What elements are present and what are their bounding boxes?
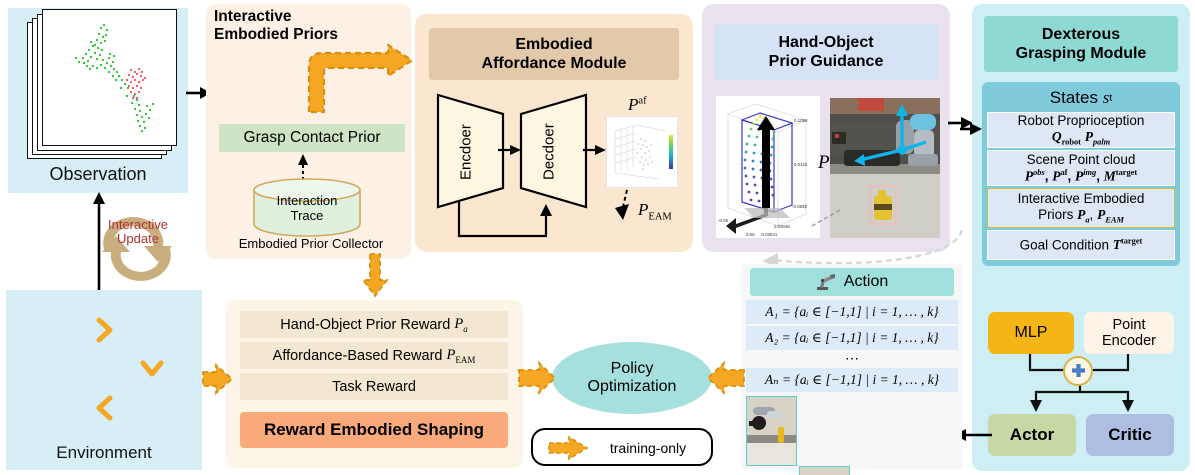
legend-label: training-only bbox=[596, 436, 700, 460]
svg-text:0.0115: 0.0115 bbox=[794, 162, 808, 167]
arrow-affordance-to-peam bbox=[615, 190, 635, 222]
peam-sub: EAM bbox=[648, 211, 671, 222]
figure-root: Observation Interactive Update Interacti… bbox=[0, 0, 1195, 475]
interactive-update-line2: Update bbox=[96, 232, 180, 246]
affordance-plot-thumbnail bbox=[606, 116, 678, 188]
state-row-interactive-embodied-priors: Interactive Embodied Priors Pa, PEAM bbox=[987, 188, 1175, 228]
encoder-label: Encdoer bbox=[455, 98, 477, 206]
eam-title-line2: Affordance Module bbox=[482, 54, 627, 73]
iep-title: Interactive Embodied Priors bbox=[214, 8, 404, 45]
action-header: Action bbox=[750, 268, 954, 296]
mlp-block[interactable]: MLP bbox=[988, 312, 1074, 354]
interactive-update-label: Interactive Update bbox=[96, 218, 180, 245]
state-row-proprioception: Robot Proprioception Qrobot Ppalm bbox=[987, 112, 1175, 148]
arrow-reward-to-policy bbox=[519, 362, 557, 394]
reward-row-task: Task Reward bbox=[240, 373, 508, 400]
decoder-label: Decdoer bbox=[538, 98, 560, 206]
arrow-action-to-policy bbox=[706, 362, 744, 394]
iep-to-eam-training-arrow bbox=[300, 44, 425, 116]
eam-header: Embodied Affordance Module bbox=[429, 28, 679, 80]
arrow-encoder-to-decoder bbox=[498, 142, 524, 158]
hop-title-line1: Hand-Object bbox=[778, 33, 873, 52]
peam-label: PEAM bbox=[638, 200, 698, 224]
dgm-title-line1: Dexterous bbox=[1042, 25, 1120, 44]
hop-pointcloud-plot: 0.1058 0.0115 -0.0838 -0.05 0.03046 0.05… bbox=[716, 96, 820, 238]
state-row-2-line1: Interactive Embodied bbox=[1018, 191, 1145, 207]
reward-1-sym: PEAM bbox=[447, 347, 476, 365]
reward-0-sym: Pa bbox=[454, 316, 467, 334]
reward-embodied-shaping-title: Reward Embodied Shaping bbox=[240, 412, 508, 448]
hop-dashed-link bbox=[812, 206, 842, 230]
interaction-trace-label: Interaction Trace bbox=[252, 194, 362, 224]
arrow-into-states bbox=[960, 120, 984, 138]
interaction-trace-line1: Interaction bbox=[277, 194, 338, 209]
observation-caption: Observation bbox=[8, 160, 188, 188]
robot-arm-icon bbox=[816, 273, 836, 291]
observation-point-cloud bbox=[42, 9, 177, 146]
policy-line1: Policy bbox=[611, 360, 654, 378]
action-equation-2: A₂ = {aᵢ ∈ [−1,1] | i = 1, … , k} bbox=[746, 326, 958, 350]
action-equation-ellipsis: ⋯ bbox=[746, 350, 958, 368]
state-row-0-math: Qrobot Ppalm bbox=[1052, 129, 1110, 147]
point-encoder-line2: Encoder bbox=[1102, 333, 1156, 349]
interactive-update-line1: Interactive bbox=[96, 218, 180, 232]
skip-connection bbox=[436, 196, 581, 244]
action-equation-1: A₁ = {aᵢ ∈ [−1,1] | i = 1, … , k} bbox=[746, 300, 958, 324]
iep-title-line2: Embodied Priors bbox=[214, 26, 404, 44]
states-sub: t bbox=[1109, 92, 1112, 104]
state-row-goal-condition: Goal Condition T^target Goal Condition T… bbox=[987, 230, 1175, 260]
svg-text:-0.0838: -0.0838 bbox=[792, 204, 807, 209]
critic-block[interactable]: Critic bbox=[1086, 414, 1174, 456]
states-title: States st bbox=[982, 86, 1180, 110]
svg-text:-0.05: -0.05 bbox=[718, 218, 729, 223]
grasp-contact-prior-chip: Grasp Contact Prior bbox=[219, 124, 405, 152]
point-cloud-svg bbox=[43, 10, 178, 147]
reward-0-text: Hand-Object Prior Reward bbox=[280, 317, 450, 333]
states-label: States bbox=[1050, 88, 1098, 108]
svg-text:0.1058: 0.1058 bbox=[794, 118, 808, 123]
state-row-1-math: Pobs, Paf, Pimg, Mtarget bbox=[1025, 168, 1137, 184]
state-row-scene-point-cloud: Scene Point cloud Pobs, Paf, Pimg, Mtarg… bbox=[987, 150, 1175, 186]
point-encoder-line1: Point bbox=[1112, 317, 1145, 333]
state-row-1-line1: Scene Point cloud bbox=[1027, 152, 1136, 168]
states-var: s bbox=[1103, 88, 1110, 108]
reward-row-hand-object: Hand-Object Prior Reward Pa bbox=[240, 311, 508, 338]
dgm-title-line2: Grasping Module bbox=[1016, 44, 1147, 63]
reward-row-affordance: Affordance-Based Reward PEAM bbox=[240, 342, 508, 369]
arrow-env-to-observation bbox=[92, 190, 106, 296]
hop-title-line2: Prior Guidance bbox=[769, 52, 884, 71]
pa-base: P bbox=[818, 152, 830, 173]
arrow-trace-to-prior bbox=[296, 152, 310, 180]
env-to-reward-training-arrow bbox=[202, 362, 234, 396]
peam-base: P bbox=[638, 200, 648, 219]
action-frame-2 bbox=[799, 466, 850, 475]
actor-block[interactable]: Actor bbox=[988, 414, 1076, 456]
eam-title-line1: Embodied bbox=[515, 35, 592, 54]
action-title: Action bbox=[844, 273, 888, 291]
embodied-prior-collector-label: Embodied Prior Collector bbox=[215, 234, 407, 252]
action-equation-n: Aₙ = {aᵢ ∈ [−1,1] | i = 1, … , k} bbox=[746, 368, 958, 392]
plus-icon bbox=[1070, 363, 1087, 380]
interaction-trace-line2: Trace bbox=[291, 209, 324, 224]
affordance-output-symbol: Paf bbox=[628, 95, 688, 117]
fusion-plus-node bbox=[1063, 356, 1093, 386]
policy-line2: Optimization bbox=[588, 378, 677, 396]
policy-optimization-node: Policy Optimization bbox=[552, 342, 712, 414]
state-row-0-line1: Robot Proprioception bbox=[1018, 113, 1145, 129]
p-af-base: P bbox=[628, 95, 638, 114]
dgm-header: Dexterous Grasping Module bbox=[984, 16, 1178, 72]
env-chevron-left bbox=[96, 396, 114, 420]
action-frame-1 bbox=[746, 396, 797, 466]
reward-1-text: Affordance-Based Reward bbox=[273, 348, 443, 364]
p-af-sup: af bbox=[638, 95, 646, 106]
env-chevron-down bbox=[140, 360, 164, 378]
point-encoder-block[interactable]: Point Encoder bbox=[1084, 312, 1174, 354]
state-row-3-text: Goal Condition Ttarget bbox=[1020, 237, 1143, 254]
collector-to-reward-training-arrow bbox=[362, 254, 388, 298]
hop-robot-photo bbox=[830, 98, 940, 238]
legend-training-arrow-icon bbox=[549, 436, 589, 460]
iep-title-line1: Interactive bbox=[214, 8, 404, 26]
environment-caption: Environment bbox=[6, 440, 202, 466]
hop-header: Hand-Object Prior Guidance bbox=[714, 24, 938, 80]
state-row-2-math: Priors Pa, PEAM bbox=[1038, 207, 1124, 225]
env-chevron-right bbox=[96, 318, 114, 342]
